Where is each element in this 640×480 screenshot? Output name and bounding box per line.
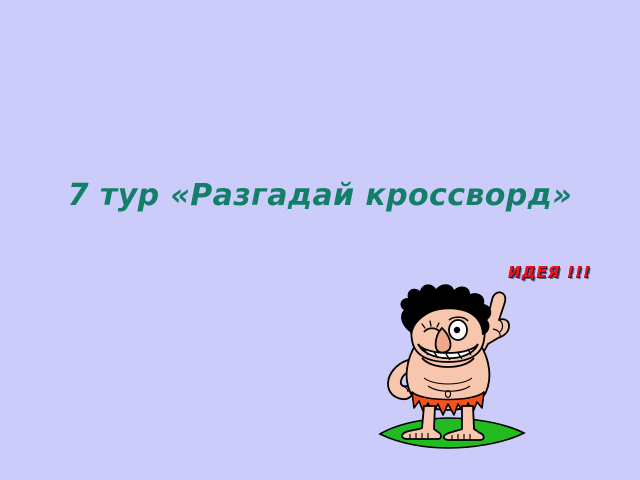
caveman-illustration — [372, 282, 532, 458]
idea-wordart-label: ИДЕЯ !!! — [508, 263, 591, 281]
slide-canvas: 7 тур «Разгадай кроссворд» ИДЕЯ !!! — [0, 0, 640, 480]
page-title: 7 тур «Разгадай кроссворд» — [0, 176, 640, 216]
